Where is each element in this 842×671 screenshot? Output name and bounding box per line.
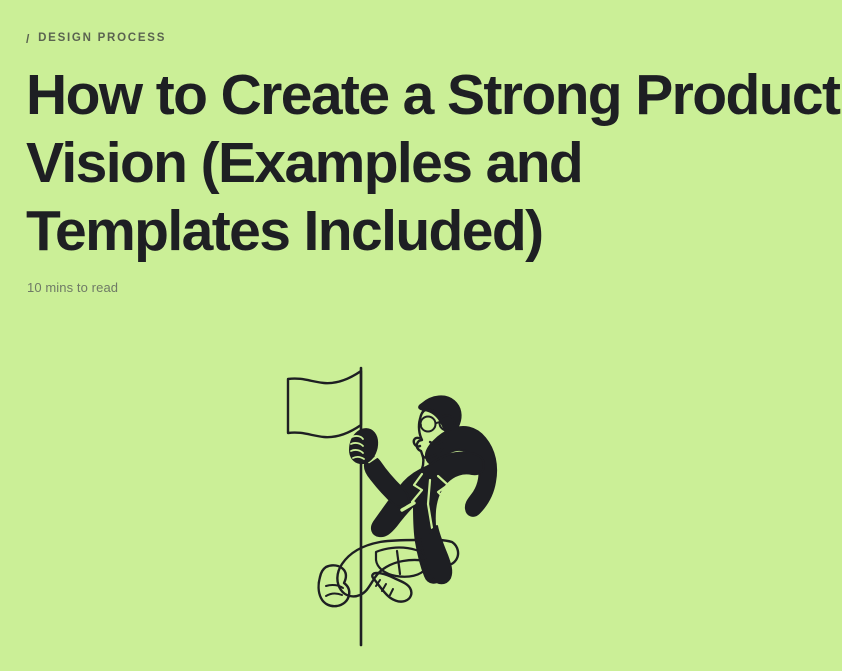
- hero-illustration: [262, 352, 552, 652]
- page-title-line-2: Vision (Examples and: [26, 129, 816, 197]
- flag-icon: [288, 371, 361, 437]
- shoe-left-sole: [326, 594, 342, 596]
- article-hero: / DESIGN PROCESS How to Create a Strong …: [0, 0, 842, 671]
- breadcrumb-category[interactable]: / DESIGN PROCESS: [26, 33, 166, 45]
- slash-separator: /: [26, 33, 31, 45]
- page-title-line-1: How to Create a Strong Product: [26, 61, 816, 129]
- page-title-line-3: Templates Included): [26, 197, 816, 265]
- shoe-left-detail: [326, 585, 343, 588]
- gripping-arm: [365, 457, 408, 507]
- page-title: How to Create a Strong Product Vision (E…: [26, 61, 816, 265]
- read-time-label: 10 mins to read: [27, 281, 118, 294]
- category-label: DESIGN PROCESS: [38, 33, 166, 45]
- gripping-hand: [350, 429, 377, 463]
